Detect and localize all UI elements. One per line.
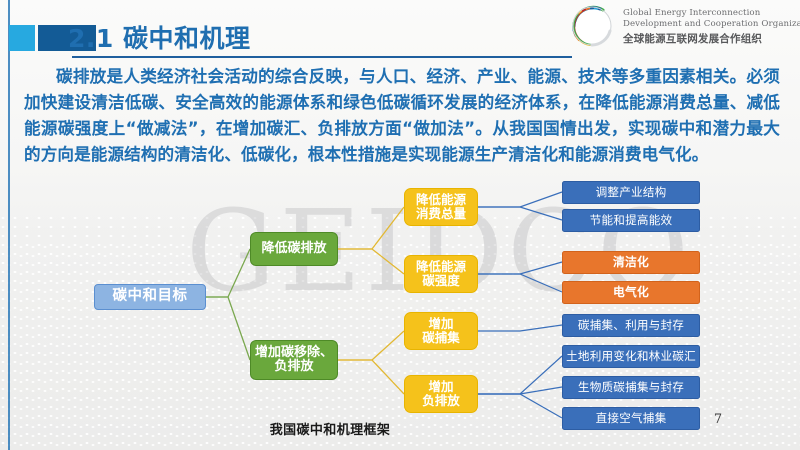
diagram-node-beccs[interactable]: 生物质碳捕集与封存 [562,376,700,399]
diagram-node-energy-saving-efficiency[interactable]: 节能和提高能效 [562,209,700,232]
diagram-node-increase-removal[interactable]: 增加碳移除、 负排放 [250,340,338,380]
diagram-node-reduce-carbon-intensity[interactable]: 降低能源 碳强度 [404,255,478,293]
diagram-node-increase-negative-emissions[interactable]: 增加 负排放 [404,375,478,413]
diagram-node-adjust-industrial-structure[interactable]: 调整产业结构 [562,181,700,204]
carbon-neutrality-framework-diagram: 碳中和目标 降低碳排放 增加碳移除、 负排放 降低能源 消费总量 降低能源 碳强… [0,0,800,450]
diagram-node-reduce-emissions[interactable]: 降低碳排放 [250,232,338,266]
diagram-node-ccus[interactable]: 碳捕集、利用与封存 [562,314,700,337]
diagram-caption: 我国碳中和机理框架 [0,419,660,438]
page-number: 7 [708,412,728,427]
diagram-node-electrification[interactable]: 电气化 [562,281,700,304]
diagram-node-increase-carbon-capture[interactable]: 增加 碳捕集 [404,312,478,350]
diagram-node-reduce-energy-consumption[interactable]: 降低能源 消费总量 [404,188,478,226]
slide-canvas: GEIDCO 2.1 碳中和机理 [0,0,800,450]
diagram-node-lulucf[interactable]: 土地利用变化和林业碳汇 [562,345,700,368]
diagram-node-root[interactable]: 碳中和目标 [94,284,206,310]
diagram-node-cleanification[interactable]: 清洁化 [562,251,700,274]
